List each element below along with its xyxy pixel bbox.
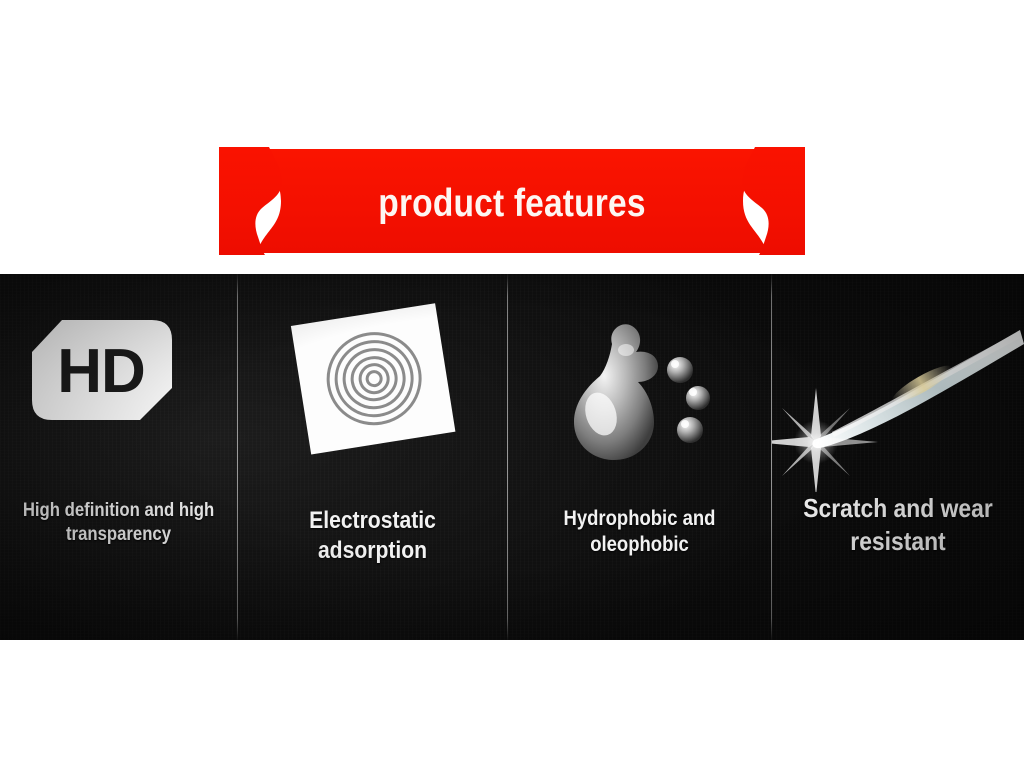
droplet-art [508, 292, 771, 492]
feature-label-line: Electrostatic adsorption [254, 506, 491, 566]
ribbon-banner: product features [219, 145, 805, 257]
feature-label-line: High definition and high [14, 499, 223, 523]
feature-label-line: transparency [14, 523, 223, 547]
feature-panel-electrostatic-adsorption[interactable]: Electrostatic adsorption [238, 274, 507, 640]
banner-region: product features [0, 145, 1024, 263]
panel-divider [771, 274, 772, 640]
feature-label-hydrophobic-oleophobic: Hydrophobic and oleophobic [524, 506, 755, 559]
feature-label-line: Scratch and wear [787, 492, 1009, 525]
features-band: HD High definition and high transparency [0, 274, 1024, 640]
electrostatic-art [238, 292, 507, 492]
water-droplet-icon [508, 292, 771, 492]
panel-divider [237, 274, 238, 640]
feature-label-scratch-wear-resistant: Scratch and wear resistant [787, 492, 1009, 557]
knife-art [772, 292, 1024, 492]
feature-label-high-definition: High definition and high transparency [14, 499, 223, 547]
feature-panel-high-definition[interactable]: HD High definition and high transparency [0, 274, 237, 640]
feature-label-line: Hydrophobic and oleophobic [524, 506, 755, 559]
banner-title: product features [260, 145, 764, 257]
feature-panel-scratch-wear-resistant[interactable]: Scratch and wear resistant [772, 274, 1024, 640]
feature-panel-hydrophobic-oleophobic[interactable]: Hydrophobic and oleophobic [508, 274, 771, 640]
feature-label-electrostatic-adsorption: Electrostatic adsorption [254, 506, 491, 566]
hd-badge-icon: HD [0, 292, 237, 492]
panel-divider [507, 274, 508, 640]
hd-badge-art: HD [0, 292, 237, 492]
feature-label-line: resistant [787, 525, 1009, 558]
svg-text:HD: HD [57, 337, 145, 406]
knife-blade-sparkle-icon [772, 292, 1024, 492]
concentric-rings-square-icon [238, 292, 507, 492]
product-features-page: product features HD High definition and … [0, 0, 1024, 768]
